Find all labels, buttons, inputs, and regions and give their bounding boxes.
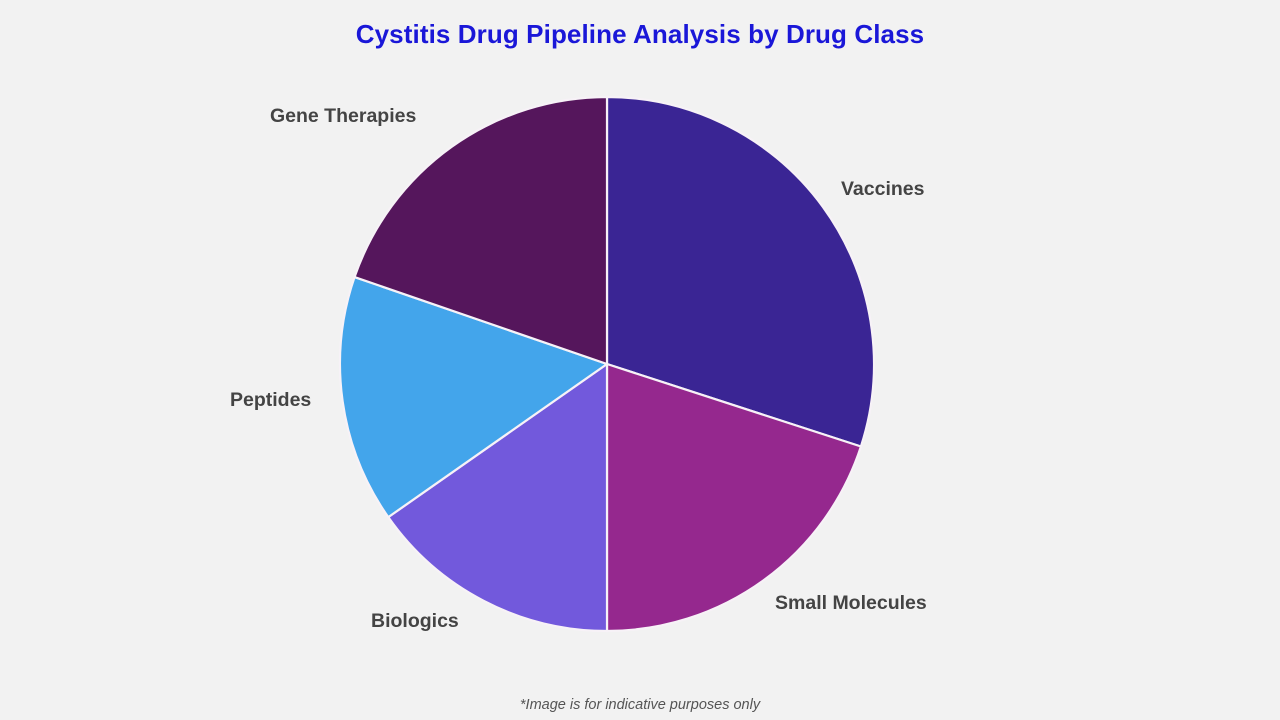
slice-label-gene-therapies: Gene Therapies [270, 105, 416, 128]
slice-label-vaccines: Vaccines [841, 178, 924, 201]
slice-label-small-molecules: Small Molecules [775, 592, 927, 615]
slice-label-biologics: Biologics [371, 610, 459, 633]
pie-svg [340, 97, 874, 631]
pie-plot-area [340, 97, 874, 631]
chart-title: Cystitis Drug Pipeline Analysis by Drug … [0, 19, 1280, 50]
footnote-text: *Image is for indicative purposes only [0, 697, 1280, 713]
pie-slices [340, 97, 874, 631]
slice-label-peptides: Peptides [230, 389, 311, 412]
pie-chart-figure: Cystitis Drug Pipeline Analysis by Drug … [0, 0, 1280, 720]
